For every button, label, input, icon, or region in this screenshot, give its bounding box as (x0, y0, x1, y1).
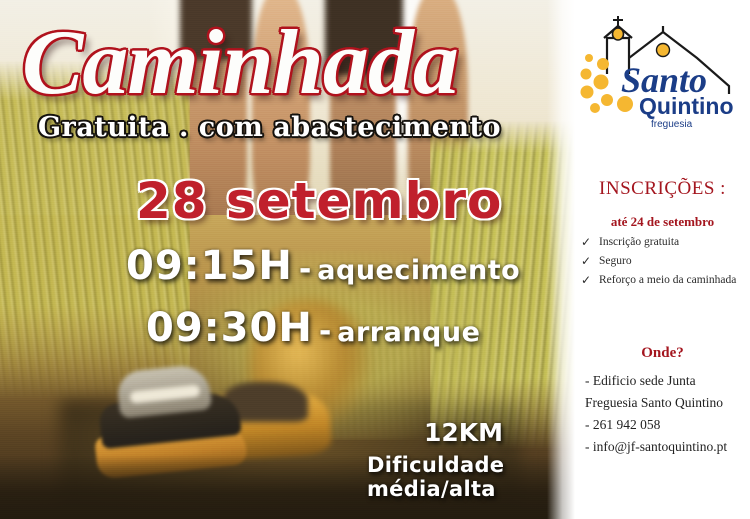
benefit-item: ✓ Inscrição gratuita (581, 236, 750, 250)
santo-quintino-logo: Santo Quintino freguesia (577, 12, 749, 134)
poster-text-layer: Caminhada Gratuita . com abastecimento 2… (0, 0, 575, 519)
email-line[interactable]: - info@jf-santoquintino.pt (585, 436, 750, 458)
distance-label: 12KM (424, 418, 503, 447)
phone-line[interactable]: - 261 942 058 (585, 414, 750, 436)
check-icon: ✓ (581, 274, 592, 288)
schedule-dash-warmup: - (293, 252, 317, 287)
benefit-label: Reforço a meio da caminhada (599, 274, 736, 288)
check-icon: ✓ (581, 255, 592, 269)
benefit-item: ✓ Seguro (581, 255, 750, 269)
address-line: Freguesia Santo Quintino (585, 392, 750, 414)
schedule-time-warmup: 09:15H (126, 243, 293, 289)
registrations-deadline: até 24 de setembro (575, 214, 750, 230)
schedule-row-warmup: 09:15H-aquecimento (126, 243, 520, 289)
logo-text-freguesia: freguesia (651, 119, 693, 130)
benefits-list: ✓ Inscrição gratuita ✓ Seguro ✓ Reforço … (581, 236, 750, 292)
info-panel: Santo Quintino freguesia INSCRIÇÕES : at… (575, 0, 750, 519)
event-date: 28 setembro (136, 172, 502, 230)
logo-text-quintino: Quintino (639, 93, 734, 119)
schedule-row-start: 09:30H-arranque (146, 305, 480, 351)
schedule-dash-start: - (313, 314, 337, 349)
benefit-label: Seguro (599, 255, 632, 269)
address-line: - Edificio sede Junta (585, 370, 750, 392)
schedule-time-start: 09:30H (146, 305, 313, 351)
roof-sun-icon (657, 44, 670, 57)
schedule-activity-start: arranque (337, 317, 480, 348)
address-block: - Edificio sede Junta Freguesia Santo Qu… (585, 370, 750, 457)
walk-event-poster: Caminhada Gratuita . com abastecimento 2… (0, 0, 750, 519)
check-icon: ✓ (581, 236, 592, 250)
difficulty-label: Dificuldade média/alta (367, 453, 575, 501)
benefit-label: Inscrição gratuita (599, 236, 679, 250)
poster-title: Caminhada (22, 16, 458, 108)
bell-icon (613, 28, 624, 40)
registrations-heading: INSCRIÇÕES : (575, 178, 750, 200)
poster-subtitle: Gratuita . com abastecimento (38, 112, 501, 143)
where-heading: Onde? (575, 345, 750, 362)
schedule-activity-warmup: aquecimento (317, 255, 520, 286)
benefit-item: ✓ Reforço a meio da caminhada (581, 274, 750, 288)
